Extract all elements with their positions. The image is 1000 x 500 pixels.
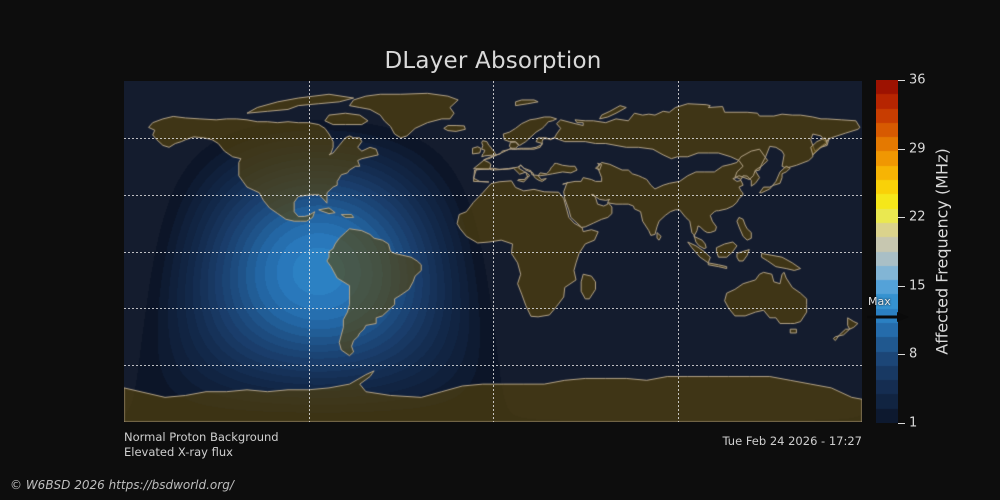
colorbar-tick-8: [898, 354, 905, 355]
colorbar-tick-label-1: 1: [909, 416, 917, 431]
colorbar-tick-label-29: 29: [909, 142, 926, 157]
annotation-proton-background: Normal Proton Background: [124, 430, 279, 444]
colorbar-tick-label-8: 8: [909, 347, 917, 362]
colorbar-tick-15: [898, 286, 905, 287]
colorbar: [876, 80, 898, 423]
colorbar-gradient: [876, 80, 898, 423]
colorbar-tick-29: [898, 149, 905, 150]
colorbar-tick-label-15: 15: [909, 279, 926, 294]
colorbar-tick-36: [898, 80, 905, 81]
colorbar-tick-label-36: 36: [909, 73, 926, 88]
dlayer-absorption-figure: DLayer Absorption 1815222936 Max Affecte…: [0, 0, 1000, 500]
colorbar-tick-1: [898, 423, 905, 424]
annotation-xray-flux: Elevated X-ray flux: [124, 445, 233, 459]
timestamp-label: Tue Feb 24 2026 - 17:27: [723, 434, 862, 448]
colorbar-max-arrow-icon: [867, 308, 909, 327]
absorption-heatmap-canvas: [124, 81, 862, 422]
page-title-text: DLayer Absorption: [384, 48, 601, 74]
colorbar-tick-22: [898, 217, 905, 218]
copyright-label: © W6BSD 2026 https://bsdworld.org/: [10, 478, 234, 492]
colorbar-tick-label-22: 22: [909, 210, 926, 225]
page-title: DLayer Absorption: [0, 48, 1000, 74]
colorbar-axis-label-text: Affected Frequency (MHz): [933, 148, 952, 354]
world-absorption-map: [124, 81, 862, 422]
colorbar-axis-label: Affected Frequency (MHz): [930, 80, 954, 423]
colorbar-max-label: Max: [868, 295, 891, 308]
